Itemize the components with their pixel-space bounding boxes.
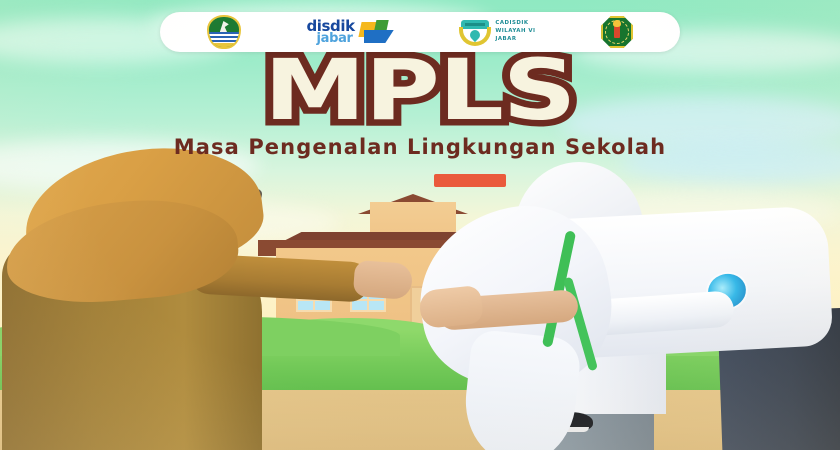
teacher-figure bbox=[2, 150, 332, 450]
cadisdik-wordmark: CADISDIK WILAYAH VI JABAR bbox=[495, 20, 535, 43]
student-bowing-figure bbox=[420, 214, 840, 450]
disdik-wordmark: disdik jabar bbox=[306, 19, 354, 45]
cadisdik-line-1: CADISDIK bbox=[495, 20, 535, 28]
kujang-icon bbox=[220, 21, 229, 32]
school-emblem-icon bbox=[601, 16, 633, 48]
shield-shape bbox=[207, 15, 241, 49]
blue-shape bbox=[364, 30, 394, 43]
mpls-poster: MPLS Masa Pengenalan Lingkungan Sekolah … bbox=[0, 0, 840, 450]
cadisdik-line-3: JABAR bbox=[495, 36, 535, 44]
jabar-emblem-icon bbox=[207, 15, 241, 49]
logo-cadisdik: CADISDIK WILAYAH VI JABAR bbox=[459, 14, 535, 50]
torch-icon bbox=[614, 25, 620, 38]
cadisdik-line-2: WILAYAH VI bbox=[495, 28, 535, 36]
disdik-mark-icon bbox=[360, 20, 394, 44]
logo-disdik-jabar: disdik jabar bbox=[306, 14, 393, 50]
student-hijab-drape bbox=[460, 329, 583, 450]
student-hand bbox=[418, 285, 484, 329]
jabar-text: jabar bbox=[316, 32, 354, 45]
logo-school-emblem bbox=[601, 14, 633, 50]
emblem-base bbox=[209, 43, 239, 47]
logo-bar: disdik jabar CADISDIK WILAYAH VI JABAR bbox=[160, 12, 680, 52]
cadisdik-mark-icon bbox=[459, 18, 491, 46]
teacher-hand bbox=[353, 260, 413, 300]
logo-jabar-emblem bbox=[207, 14, 241, 50]
